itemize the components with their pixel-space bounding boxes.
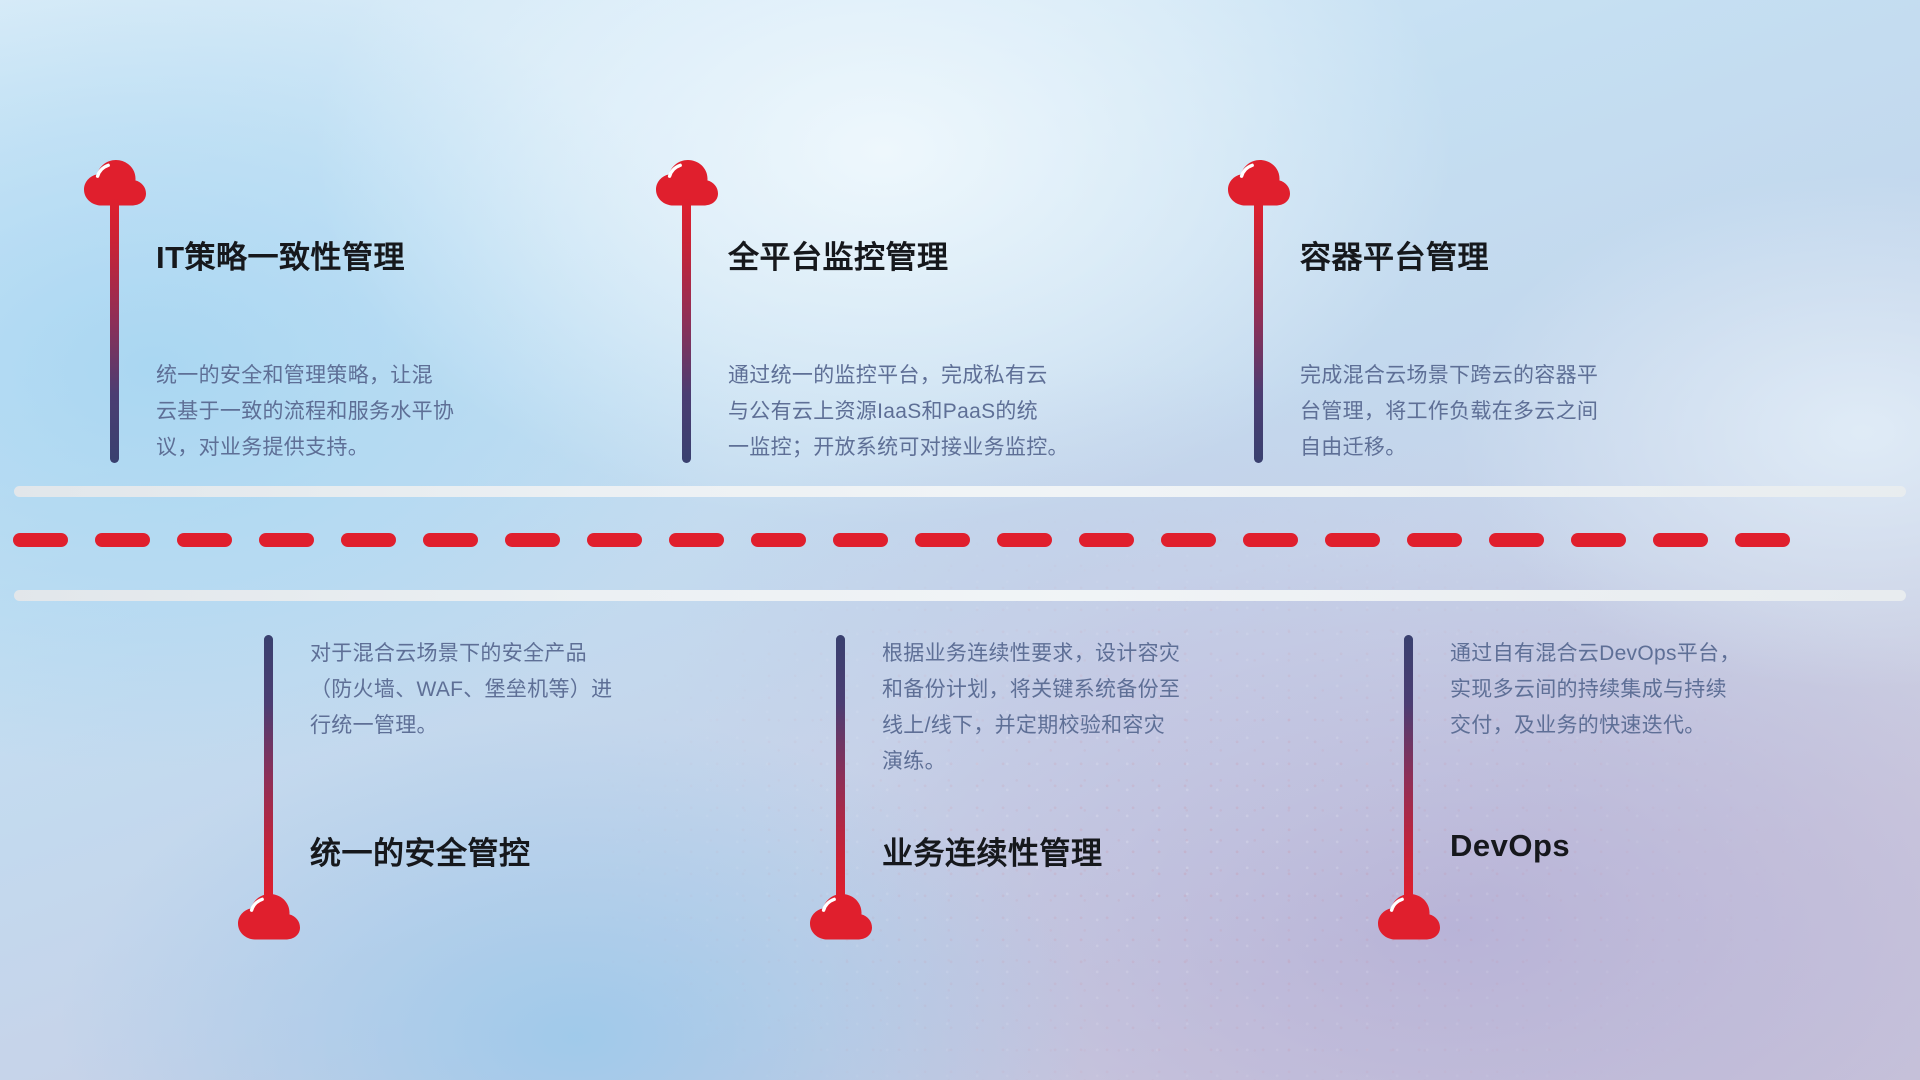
divider-dash — [751, 533, 806, 547]
connector-line — [1404, 635, 1413, 900]
column-business-continuity-management: 根据业务连续性要求，设计容灾 和备份计划，将关键系统备份至 线上/线下，并定期校… — [822, 610, 1382, 1080]
section-body: 通过自有混合云DevOps平台， 实现多云间的持续集成与持续 交付，及业务的快速… — [1450, 636, 1840, 744]
divider-dash — [1489, 533, 1544, 547]
divider-dash — [587, 533, 642, 547]
cloud-icon — [1378, 894, 1440, 940]
section-heading: DevOps — [1450, 828, 1570, 864]
section-body: 对于混合云场景下的安全产品 （防火墙、WAF、堡垒机等）进 行统一管理。 — [310, 636, 700, 744]
divider-dash — [341, 533, 396, 547]
divider-dash — [1161, 533, 1216, 547]
column-container-platform-management: 容器平台管理 完成混合云场景下跨云的容器平 台管理，将工作负载在多云之间 自由迁… — [1240, 0, 1800, 486]
divider-bar-top — [14, 486, 1906, 497]
column-unified-security-control: 对于混合云场景下的安全产品 （防火墙、WAF、堡垒机等）进 行统一管理。 统一的… — [250, 610, 810, 1080]
cloud-icon — [238, 894, 300, 940]
divider-dash — [13, 533, 68, 547]
divider-dash — [997, 533, 1052, 547]
divider-dash — [423, 533, 478, 547]
divider-dash — [833, 533, 888, 547]
divider-dash — [1653, 533, 1708, 547]
divider-dash — [1079, 533, 1134, 547]
section-body: 通过统一的监控平台，完成私有云 与公有云上资源IaaS和PaaS的统 一监控；开… — [728, 358, 1118, 466]
cloud-icon — [810, 894, 872, 940]
connector-line — [110, 198, 119, 463]
section-body: 完成混合云场景下跨云的容器平 台管理，将工作负载在多云之间 自由迁移。 — [1300, 358, 1690, 466]
divider-dash — [1243, 533, 1298, 547]
divider-dash — [505, 533, 560, 547]
connector-line — [836, 635, 845, 900]
divider-dash — [669, 533, 724, 547]
column-devops: 通过自有混合云DevOps平台， 实现多云间的持续集成与持续 交付，及业务的快速… — [1390, 610, 1920, 1080]
section-heading: 统一的安全管控 — [310, 828, 531, 873]
divider-dash — [95, 533, 150, 547]
top-row: IT策略一致性管理 统一的安全和管理策略，让混 云基于一致的流程和服务水平协 议… — [0, 0, 1920, 486]
connector-line — [264, 635, 273, 900]
bottom-row: 对于混合云场景下的安全产品 （防火墙、WAF、堡垒机等）进 行统一管理。 统一的… — [0, 610, 1920, 1080]
section-body: 统一的安全和管理策略，让混 云基于一致的流程和服务水平协 议，对业务提供支持。 — [156, 358, 546, 466]
column-full-platform-monitoring: 全平台监控管理 通过统一的监控平台，完成私有云 与公有云上资源IaaS和PaaS… — [668, 0, 1228, 486]
section-body: 根据业务连续性要求，设计容灾 和备份计划，将关键系统备份至 线上/线下，并定期校… — [882, 636, 1272, 780]
connector-line — [682, 198, 691, 463]
column-it-policy-consistency: IT策略一致性管理 统一的安全和管理策略，让混 云基于一致的流程和服务水平协 议… — [96, 0, 656, 486]
divider-bar-bottom — [14, 590, 1906, 601]
divider-dash — [177, 533, 232, 547]
section-heading: 容器平台管理 — [1300, 232, 1489, 277]
divider-dash — [1735, 533, 1790, 547]
divider-dash — [1407, 533, 1462, 547]
divider-dashed-line — [0, 533, 1920, 547]
divider-dash — [1325, 533, 1380, 547]
section-heading: 全平台监控管理 — [728, 232, 949, 277]
divider-dash — [259, 533, 314, 547]
divider-dash — [915, 533, 970, 547]
section-heading: 业务连续性管理 — [882, 828, 1103, 873]
infographic-canvas: IT策略一致性管理 统一的安全和管理策略，让混 云基于一致的流程和服务水平协 议… — [0, 0, 1920, 1080]
divider-dash — [1571, 533, 1626, 547]
divider — [0, 486, 1920, 610]
section-heading: IT策略一致性管理 — [156, 232, 405, 277]
connector-line — [1254, 198, 1263, 463]
